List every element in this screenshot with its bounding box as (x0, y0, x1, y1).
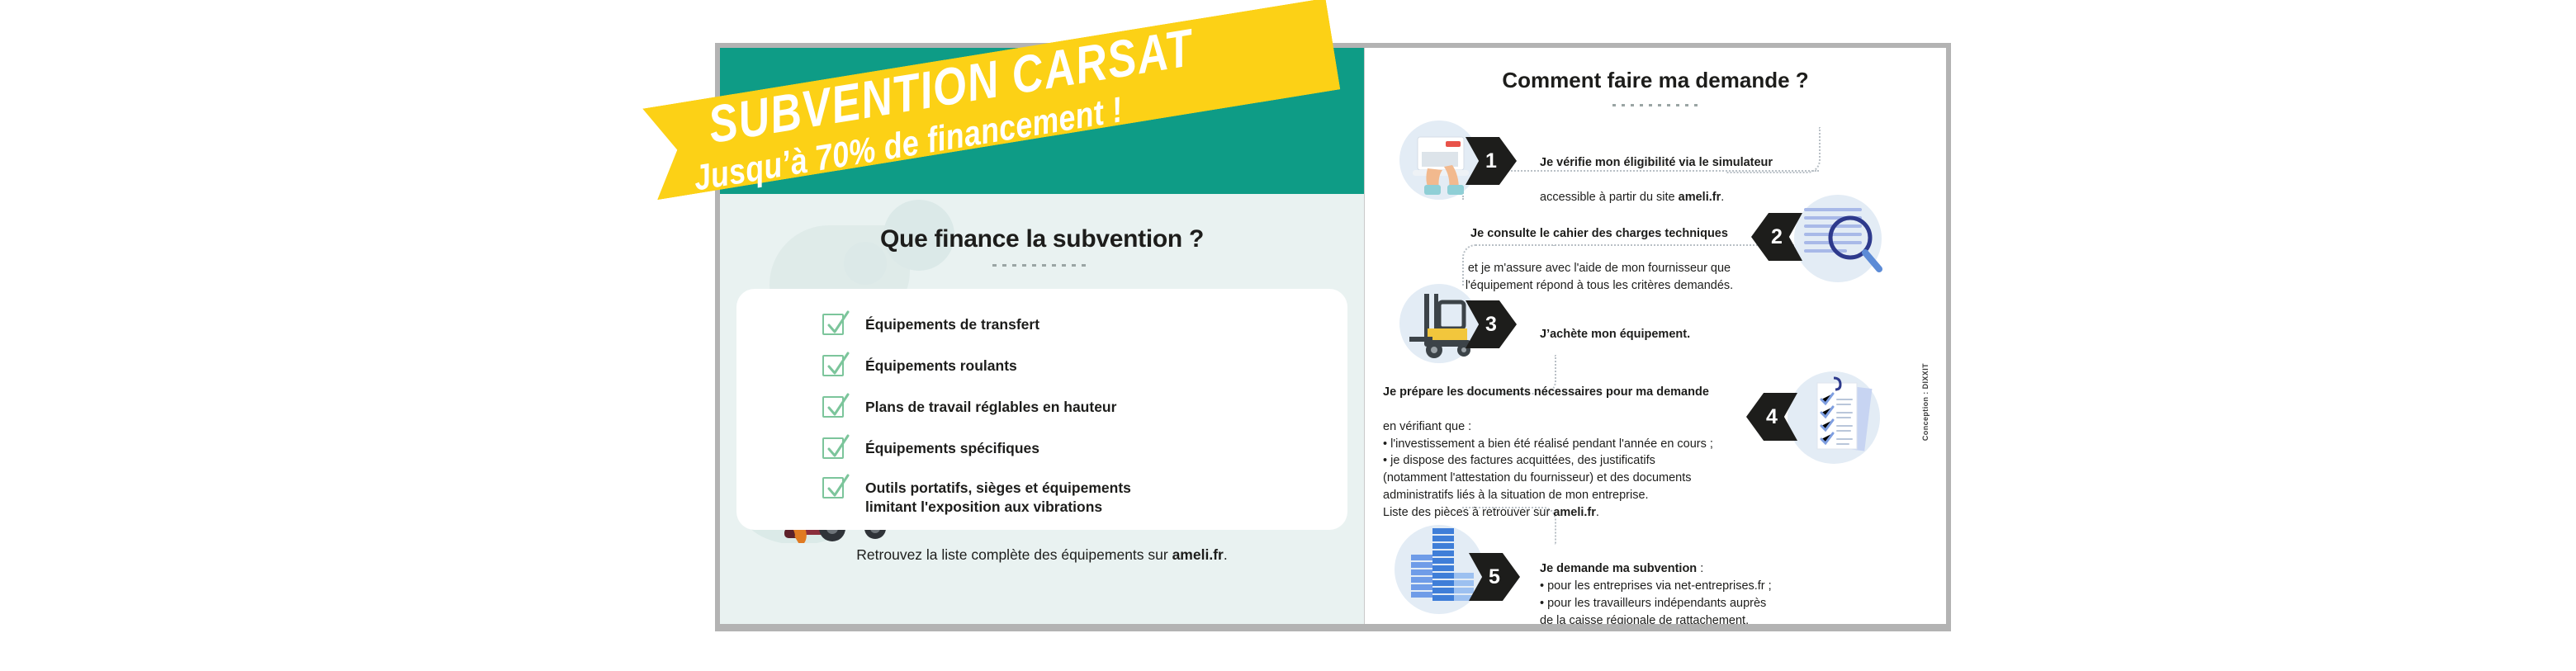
step-4-link-ameli[interactable]: ameli.fr (1553, 506, 1596, 519)
step-1-text: Je vérifie mon éligibilité via le simula… (1540, 137, 1788, 206)
list-item-label: Outils portatifs, sièges et équipements … (865, 477, 1131, 517)
step-5-bold-text: Je demande ma subvention (1540, 562, 1697, 575)
step-2-rest-text: et je m'assure avec l'aide de mon fourni… (1466, 262, 1733, 292)
footer-prefix-text: Retrouvez la liste complète des équipeme… (856, 546, 1172, 563)
checklist-documents-icon (1799, 375, 1882, 464)
list-item: Outils portatifs, sièges et équipements … (822, 477, 1131, 517)
right-title-dotted-rule (1612, 104, 1698, 106)
step-3-text: J’achète mon équipement. (1540, 309, 1788, 343)
laptop-hands-icon (1406, 127, 1474, 195)
list-item: Équipements roulants (822, 355, 1017, 376)
checkbox-checked-icon (822, 355, 844, 376)
list-item: Plans de travail réglables en hauteur (822, 396, 1116, 418)
step-1-bold-text: Je vérifie mon éligibilité via le simula… (1540, 156, 1773, 169)
checkbox-checked-icon (822, 437, 844, 459)
list-item: Équipements de transfert (822, 314, 1039, 335)
footer-suffix-text: . (1224, 546, 1228, 563)
step-4-text: Je prépare les documents nécessaires pou… (1383, 366, 1740, 522)
left-title-dotted-rule (992, 264, 1091, 267)
document-magnifier-icon (1797, 198, 1883, 281)
right-panel: Comment faire ma demande ? 1 (1365, 48, 1946, 624)
list-item-label: Équipements spécifiques (865, 437, 1039, 458)
list-item-label: Plans de travail réglables en hauteur (865, 396, 1116, 417)
footer-link-ameli[interactable]: ameli.fr (1172, 546, 1224, 563)
step-5-text: Je demande ma subvention : • pour les en… (1540, 543, 1812, 624)
left-panel-footer: Retrouvez la liste complète des équipeme… (720, 546, 1364, 564)
step-1-rest-text: accessible à partir du site (1540, 191, 1679, 204)
list-item-label: Équipements roulants (865, 355, 1017, 376)
list-item: Équipements spécifiques (822, 437, 1039, 459)
forklift-icon (1403, 287, 1479, 361)
step-2-text: Je consulte le cahier des charges techni… (1454, 208, 1745, 294)
step-1-link-ameli[interactable]: ameli.fr (1679, 191, 1721, 204)
checkbox-checked-icon (822, 314, 844, 335)
step-1-tail-text: . (1721, 191, 1724, 204)
step-3-bold-text: J’achète mon équipement. (1540, 328, 1690, 341)
checkbox-checked-icon (822, 396, 844, 418)
right-panel-title: Comment faire ma demande ? (1365, 68, 1946, 93)
left-panel-title: Que finance la subvention ? (720, 225, 1364, 253)
step-4-rest-text: en vérifiant que : • l'investissement a … (1383, 420, 1713, 519)
step-4-bold-text: Je prépare les documents nécessaires pou… (1383, 385, 1709, 399)
list-item-label: Équipements de transfert (865, 314, 1039, 334)
conception-credit: Conception : DIXXIT (1921, 363, 1934, 441)
step-4-tail-text: . (1596, 506, 1599, 519)
checkbox-checked-icon (822, 477, 844, 499)
step-2-bold-text: Je consulte le cahier des charges techni… (1470, 227, 1728, 240)
